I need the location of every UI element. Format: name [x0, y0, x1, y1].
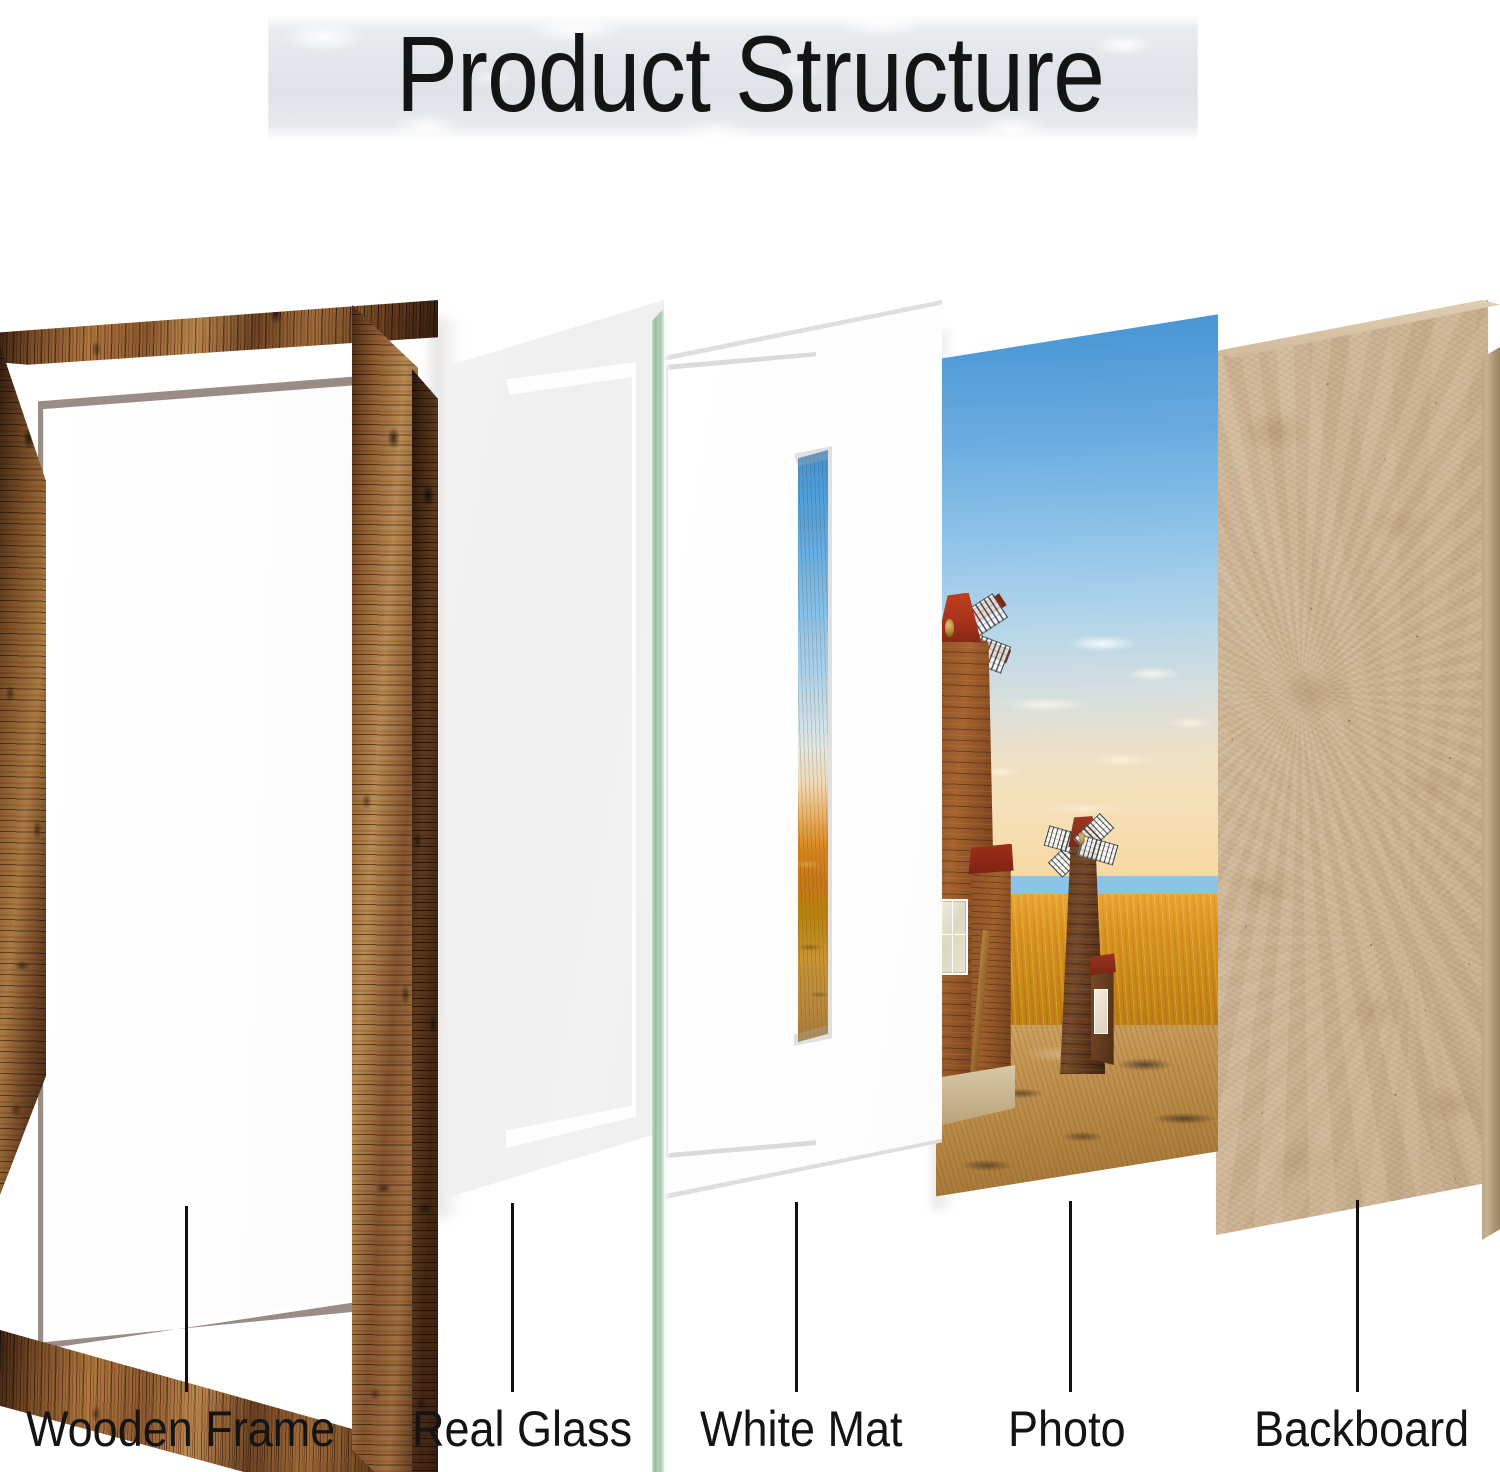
windmill-small-hub — [1079, 832, 1085, 846]
layer-backboard[interactable] — [1216, 300, 1500, 1240]
label-backboard: Backboard — [1254, 1398, 1469, 1460]
backboard-fiber-texture — [1216, 300, 1488, 1235]
leader-line-real-glass — [511, 1203, 514, 1392]
backboard-thickness-edge — [1482, 347, 1500, 1240]
layer-photo[interactable] — [936, 300, 1226, 1200]
leader-line-photo — [1069, 1201, 1072, 1392]
glass-pane-icon — [446, 300, 664, 1198]
mat-window-photo-texture — [798, 450, 828, 1042]
label-white-mat: White Mat — [700, 1398, 903, 1460]
label-real-glass: Real Glass — [412, 1398, 632, 1460]
layer-real-glass[interactable] — [446, 300, 676, 1200]
product-structure-infographic: Product Structure — [0, 0, 1500, 1472]
windmill-small-window — [1094, 989, 1108, 1034]
layer-labels: Wooden Frame Real Glass White Mat Photo … — [0, 1398, 1500, 1472]
frame-opening — [40, 378, 358, 1346]
window-mullion — [952, 899, 954, 976]
frame-right-rail — [352, 305, 418, 1472]
exploded-layer-diagram — [0, 0, 1500, 1250]
frame-left-rail — [0, 345, 46, 1195]
label-photo: Photo — [1008, 1398, 1126, 1460]
glass-thickness-edge — [652, 308, 664, 1472]
windmill-small-annex-roof — [1089, 953, 1116, 975]
layer-white-mat[interactable] — [660, 300, 950, 1205]
leader-line-white-mat — [795, 1202, 798, 1392]
windmill-large-annex-roof — [968, 844, 1013, 875]
photo-print-icon — [936, 300, 1218, 1200]
leader-line-wooden-frame — [185, 1206, 188, 1392]
frame-thickness-edge — [412, 369, 438, 1472]
leader-line-backboard — [1356, 1200, 1359, 1392]
label-wooden-frame: Wooden Frame — [26, 1398, 335, 1460]
glass-edge-highlight — [664, 310, 671, 1472]
layer-wooden-frame[interactable] — [0, 300, 438, 1235]
